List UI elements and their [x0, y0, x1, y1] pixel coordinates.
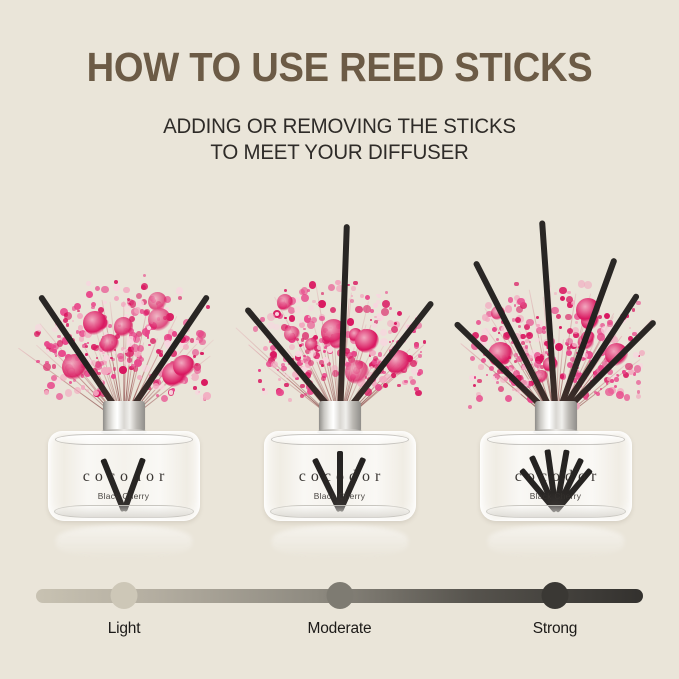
flower-blossom: [258, 369, 260, 371]
flower-blossom: [482, 314, 488, 320]
flower-blossom: [385, 291, 388, 294]
header: HOW TO USE REED STICKS ADDING OR REMOVIN…: [0, 0, 679, 165]
flower-blossom: [614, 377, 618, 381]
flower-blossom: [85, 353, 88, 356]
flower-blossom: [299, 319, 303, 323]
flower-cluster: [355, 329, 379, 353]
flower-cluster: [148, 308, 171, 331]
flower-blossom: [560, 374, 564, 378]
flower-blossom: [365, 295, 370, 300]
flower-blossom: [200, 352, 204, 356]
flower-blossom: [131, 344, 139, 352]
bottle-rim: [271, 434, 409, 445]
flower-blossom: [87, 342, 89, 344]
flower-blossom: [636, 394, 641, 399]
reed-arrangement-strong: [448, 205, 663, 420]
flower-blossom: [606, 382, 609, 385]
flower-blossom: [560, 296, 565, 301]
flower-blossom: [137, 300, 144, 307]
intensity-slider[interactable]: [36, 582, 643, 608]
flower-blossom: [474, 376, 476, 378]
flower-blossom: [478, 364, 484, 370]
diffuser-bottle: cocodor Black Cherry: [265, 401, 415, 529]
flower-blossom: [521, 377, 523, 379]
bottle-reflection: [56, 525, 192, 559]
flower-blossom: [583, 353, 587, 357]
flower-blossom: [139, 357, 144, 362]
flower-blossom: [498, 386, 504, 392]
flower-blossom: [514, 353, 518, 357]
flower-blossom: [137, 375, 142, 380]
flower-blossom: [360, 294, 364, 298]
flower-blossom: [514, 282, 519, 287]
flower-blossom: [86, 291, 93, 298]
flower-blossom: [512, 388, 514, 390]
flower-blossom: [113, 352, 115, 354]
flower-blossom: [194, 340, 198, 344]
bottle-glass: cocodor Black Cherry: [264, 431, 416, 521]
flower-blossom: [567, 328, 573, 334]
flower-blossom: [498, 332, 500, 334]
flower-blossom: [410, 379, 416, 385]
flower-blossom: [610, 379, 614, 383]
flower-blossom: [318, 300, 326, 308]
flower-blossom: [556, 314, 561, 319]
flower-blossom: [381, 308, 389, 316]
flower-blossom: [565, 342, 568, 345]
flower-blossom: [178, 296, 182, 300]
flower-blossom: [476, 320, 481, 325]
flower-blossom: [566, 350, 572, 356]
flower-blossom: [118, 356, 123, 361]
flower-blossom: [176, 287, 184, 295]
flower-blossom: [295, 351, 302, 358]
brand-label: cocodor: [265, 468, 415, 486]
flower-blossom: [284, 383, 289, 388]
flower-blossom: [370, 309, 374, 313]
flower-blossom: [316, 303, 318, 305]
flower-blossom: [470, 356, 475, 361]
flower-blossom: [423, 340, 427, 344]
flower-blossom: [638, 355, 640, 357]
flower-blossom: [301, 294, 309, 302]
flower-blossom: [69, 381, 72, 384]
flower-blossom: [380, 329, 387, 336]
flower-blossom: [284, 317, 287, 320]
flower-blossom: [350, 299, 354, 303]
scent-label: Black Cherry: [481, 491, 631, 501]
flower-blossom: [351, 286, 356, 291]
flower-blossom: [96, 357, 98, 359]
flower-blossom: [123, 349, 127, 353]
flower-blossom: [309, 281, 317, 289]
flower-blossom: [201, 379, 208, 386]
flower-blossom: [328, 284, 335, 291]
flower-blossom: [321, 292, 324, 295]
flower-blossom: [53, 345, 56, 348]
flower-blossom: [632, 308, 636, 312]
slider-label-light: Light: [108, 620, 141, 638]
flower-blossom: [294, 306, 301, 313]
flower-blossom: [397, 384, 400, 387]
flower-blossom: [156, 394, 159, 397]
subtitle-line-2: TO MEET YOUR DIFFUSER: [17, 139, 662, 165]
flower-blossom: [529, 341, 531, 343]
flower-blossom: [637, 390, 641, 394]
subtitle-line-1: ADDING OR REMOVING THE STICKS: [17, 113, 662, 139]
flower-blossom: [500, 376, 507, 383]
flower-blossom: [303, 328, 306, 331]
flower-blossom: [150, 338, 156, 344]
flower-blossom: [124, 304, 132, 312]
flower-blossom: [86, 281, 91, 286]
flower-blossom: [63, 318, 68, 323]
flower-blossom: [376, 300, 381, 305]
bottle-base: [486, 505, 626, 518]
flower-blossom: [505, 305, 513, 313]
flower-blossom: [51, 375, 57, 381]
flower-blossom: [554, 292, 557, 295]
flower-blossom: [633, 352, 639, 358]
flower-blossom: [508, 297, 514, 303]
flower-blossom: [370, 319, 372, 321]
flower-blossom: [351, 351, 357, 357]
flower-blossom: [321, 376, 326, 381]
flower-blossom: [285, 374, 289, 378]
page-subtitle: ADDING OR REMOVING THE STICKS TO MEET YO…: [17, 88, 662, 165]
flower-blossom: [203, 392, 211, 400]
flower-blossom: [289, 344, 295, 350]
flower-blossom: [123, 287, 130, 294]
flower-blossom: [559, 326, 562, 329]
flower-blossom: [638, 386, 641, 389]
bottle-glass: cocodor Black Cherry: [480, 431, 632, 521]
flower-blossom: [370, 366, 373, 369]
bottle-reflection: [272, 525, 408, 559]
flower-blossom: [496, 381, 499, 384]
flower-blossom: [65, 389, 72, 396]
flower-blossom: [95, 286, 100, 291]
flower-blossom: [72, 320, 74, 322]
flower-blossom: [584, 396, 588, 400]
flower-blossom: [389, 307, 392, 310]
flower-blossom: [183, 344, 189, 350]
slider-label-row: Light Moderate Strong: [0, 620, 679, 644]
flower-blossom: [46, 349, 49, 352]
bottle-base: [54, 505, 194, 518]
flower-blossom: [566, 296, 574, 304]
flower-blossom: [85, 345, 88, 348]
flower-blossom: [567, 291, 571, 295]
flower-blossom: [289, 315, 296, 322]
flower-blossom: [74, 303, 81, 310]
brand-label: cocodor: [49, 468, 199, 486]
flower-blossom: [47, 382, 55, 390]
flower-blossom: [113, 367, 116, 370]
flower-blossom: [378, 352, 383, 357]
diffuser-moderate: cocodor Black Cherry: [232, 205, 447, 565]
reed-arrangement-light: [16, 205, 231, 420]
flower-blossom: [535, 338, 540, 343]
flower-blossom: [629, 327, 632, 330]
bottle-cap: [535, 401, 577, 431]
flower-cluster: [284, 326, 301, 343]
flower-blossom: [300, 384, 305, 389]
slider-knob-moderate[interactable]: [326, 582, 353, 609]
flower-blossom: [525, 345, 528, 348]
flower-blossom: [600, 388, 602, 390]
page-title: HOW TO USE REED STICKS: [24, 0, 655, 88]
flower-blossom: [420, 351, 422, 353]
slider-label-strong: Strong: [533, 620, 577, 638]
flower-blossom: [301, 360, 304, 363]
flower-blossom: [485, 302, 492, 309]
flower-cluster: [305, 338, 318, 351]
flower-blossom: [555, 343, 563, 351]
flower-blossom: [34, 331, 40, 337]
flower-blossom: [307, 289, 310, 292]
flower-blossom: [494, 378, 497, 381]
flower-cluster: [114, 317, 133, 336]
flower-blossom: [323, 350, 325, 352]
flower-blossom: [66, 323, 70, 327]
brand-label: cocodor: [481, 468, 631, 486]
flower-blossom: [418, 354, 422, 358]
flower-blossom: [190, 338, 194, 342]
flower-blossom: [486, 374, 488, 376]
flower-blossom: [153, 383, 159, 389]
flower-blossom: [195, 390, 200, 395]
flower-blossom: [559, 287, 567, 295]
scent-label: Black Cherry: [49, 491, 199, 501]
flower-blossom: [142, 365, 149, 372]
bottle-base: [270, 505, 410, 518]
flower-blossom: [578, 371, 581, 374]
flower-blossom: [103, 355, 109, 361]
flower-blossom: [311, 317, 317, 323]
flower-blossom: [572, 327, 579, 334]
flower-blossom: [397, 311, 402, 316]
bottle-reflection: [488, 525, 624, 559]
flower-blossom: [624, 394, 630, 400]
flower-blossom: [312, 300, 315, 303]
flower-blossom: [604, 313, 610, 319]
flower-blossom: [517, 298, 524, 305]
flower-blossom: [263, 346, 268, 351]
flower-blossom: [284, 289, 287, 292]
flower-cluster: [83, 311, 107, 335]
flower-blossom: [596, 392, 601, 397]
flower-blossom: [518, 325, 521, 328]
flower-blossom: [316, 356, 319, 359]
bottle-rim: [55, 434, 193, 445]
flower-blossom: [521, 341, 525, 345]
flower-blossom: [489, 366, 495, 372]
diffuser-strong: cocodor Black Cherry: [448, 205, 663, 565]
diffuser-light: cocodor Black Cherry: [16, 205, 231, 565]
flower-blossom: [599, 325, 601, 327]
flower-blossom: [498, 296, 501, 299]
flower-blossom: [514, 304, 516, 306]
flower-blossom: [43, 363, 51, 371]
flower-blossom: [388, 330, 392, 334]
bottle-glass: cocodor Black Cherry: [48, 431, 200, 521]
flower-blossom: [534, 361, 540, 367]
flower-blossom: [103, 301, 107, 305]
flower-blossom: [391, 326, 398, 333]
flower-blossom: [127, 357, 132, 362]
flower-blossom: [44, 390, 50, 396]
flower-blossom: [147, 336, 149, 338]
bottle-cap: [103, 401, 145, 431]
flower-blossom: [542, 330, 546, 334]
flower-blossom: [119, 366, 126, 373]
bottle-rim: [487, 434, 625, 445]
flower-blossom: [392, 340, 394, 342]
flower-blossom: [303, 355, 305, 357]
flower-blossom: [141, 283, 148, 290]
flower-blossom: [169, 390, 174, 395]
flower-blossom: [521, 368, 523, 370]
flower-cluster: [277, 294, 294, 311]
slider-knob-light[interactable]: [111, 582, 138, 609]
flower-blossom: [114, 296, 119, 301]
flower-blossom: [330, 307, 336, 313]
flower-blossom: [52, 364, 57, 369]
flower-cluster: [173, 355, 195, 377]
infographic-page: HOW TO USE REED STICKS ADDING OR REMOVIN…: [0, 0, 679, 679]
flower-blossom: [496, 338, 499, 341]
flower-blossom: [373, 356, 378, 361]
flower-blossom: [299, 344, 302, 347]
flower-blossom: [79, 336, 85, 342]
flower-blossom: [551, 307, 558, 314]
flower-blossom: [199, 339, 205, 345]
reed-arrangement-moderate: [232, 205, 447, 420]
flower-blossom: [536, 316, 539, 319]
flower-blossom: [520, 334, 526, 340]
flower-blossom: [380, 338, 388, 346]
flower-blossom: [86, 389, 90, 393]
flower-blossom: [383, 383, 388, 388]
diffuser-bottle: cocodor Black Cherry: [49, 401, 199, 529]
flower-blossom: [319, 316, 325, 322]
flower-blossom: [308, 305, 314, 311]
flower-blossom: [106, 367, 113, 374]
flower-blossom: [319, 360, 324, 365]
flower-blossom: [300, 394, 304, 398]
flower-blossom: [55, 355, 57, 357]
flower-blossom: [375, 384, 382, 391]
flower-blossom: [636, 380, 641, 385]
flower-blossom: [477, 379, 482, 384]
flower-blossom: [271, 361, 279, 369]
flower-blossom: [206, 305, 210, 309]
flower-blossom: [52, 349, 56, 353]
slider-label-moderate: Moderate: [308, 620, 372, 638]
diffuser-bottle: cocodor Black Cherry: [481, 401, 631, 529]
flower-blossom: [353, 281, 358, 286]
flower-blossom: [379, 376, 386, 383]
flower-blossom: [278, 378, 281, 381]
bottle-cap: [319, 401, 361, 431]
flower-blossom: [97, 372, 100, 375]
flower-blossom: [281, 366, 286, 371]
flower-blossom: [605, 388, 613, 396]
flower-cluster: [100, 334, 120, 354]
flower-blossom: [481, 358, 486, 363]
flower-blossom: [277, 369, 279, 371]
flower-blossom: [91, 306, 95, 310]
flower-blossom: [526, 332, 533, 339]
flower-blossom: [258, 379, 262, 383]
flower-blossom: [636, 301, 640, 305]
flower-blossom: [193, 355, 196, 358]
flower-blossom: [56, 393, 63, 400]
flower-blossom: [526, 319, 534, 327]
scent-label: Black Cherry: [265, 491, 415, 501]
flower-blossom: [101, 286, 109, 294]
flower-blossom: [57, 340, 64, 347]
flower-blossom: [372, 323, 377, 328]
flower-blossom: [347, 284, 349, 286]
flower-blossom: [36, 360, 40, 364]
flower-blossom: [414, 343, 420, 349]
slider-knob-strong[interactable]: [541, 582, 568, 609]
flower-blossom: [275, 312, 279, 316]
flower-blossom: [389, 341, 391, 343]
dried-flower-bouquet: [33, 252, 215, 424]
flower-blossom: [191, 373, 199, 381]
flower-blossom: [276, 389, 283, 396]
flower-blossom: [492, 327, 497, 332]
flower-blossom: [565, 314, 572, 321]
flower-blossom: [351, 295, 354, 298]
flower-blossom: [473, 384, 476, 387]
flower-blossom: [575, 321, 578, 324]
flower-blossom: [143, 274, 146, 277]
flower-blossom: [262, 388, 265, 391]
flower-blossom: [403, 375, 406, 378]
flower-blossom: [267, 313, 275, 321]
flower-blossom: [355, 306, 362, 313]
flower-blossom: [468, 405, 472, 409]
flower-blooms: [33, 252, 215, 424]
flower-blossom: [111, 374, 116, 379]
flower-blossom: [625, 363, 632, 370]
flower-blossom: [418, 369, 423, 374]
flower-blossom: [113, 284, 120, 291]
flower-blossom: [283, 372, 286, 375]
flower-blossom: [308, 316, 310, 318]
flower-blossom: [578, 280, 585, 287]
flower-blossom: [327, 346, 333, 352]
flower-blossom: [44, 341, 50, 347]
flower-blossom: [616, 391, 624, 399]
flower-blossom: [308, 360, 314, 366]
flower-blossom: [91, 344, 96, 349]
flower-blossom: [91, 360, 97, 366]
flower-blossom: [148, 344, 150, 346]
product-row: cocodor Black Cherry cocodor B: [0, 205, 679, 565]
flower-blossom: [634, 365, 642, 373]
flower-blossom: [347, 318, 355, 326]
